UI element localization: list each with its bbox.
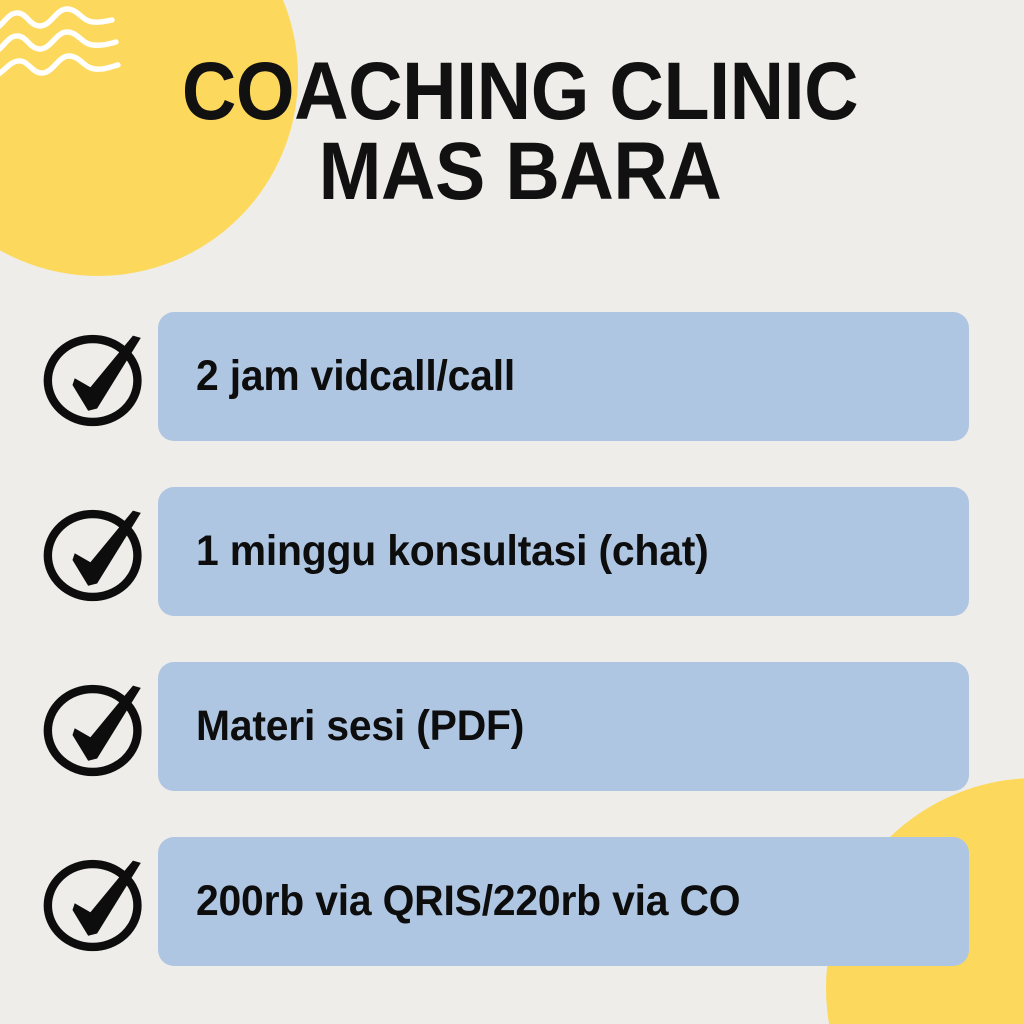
feature-label: 1 minggu konsultasi (chat) <box>158 527 709 576</box>
circled-check-icon <box>40 845 152 957</box>
feature-list: 2 jam vidcall/call 1 minggu konsultasi (… <box>0 312 1024 966</box>
feature-label: Materi sesi (PDF) <box>158 702 524 751</box>
feature-bar[interactable]: 1 minggu konsultasi (chat) <box>158 487 969 616</box>
circled-check-icon <box>40 495 152 607</box>
list-item[interactable]: 1 minggu konsultasi (chat) <box>0 487 1024 616</box>
list-item[interactable]: Materi sesi (PDF) <box>0 662 1024 791</box>
feature-bar[interactable]: 200rb via QRIS/220rb via CO <box>158 837 969 966</box>
feature-bar[interactable]: Materi sesi (PDF) <box>158 662 969 791</box>
title-line-2: MAS BARA <box>143 132 897 212</box>
list-item[interactable]: 2 jam vidcall/call <box>0 312 1024 441</box>
poster-canvas: COACHING CLINIC MAS BARA 2 jam vidcall/c… <box>0 0 1024 1024</box>
page-title: COACHING CLINIC MAS BARA <box>110 52 930 213</box>
feature-label: 2 jam vidcall/call <box>158 352 515 401</box>
circled-check-icon <box>40 320 152 432</box>
circled-check-icon <box>40 670 152 782</box>
title-line-1: COACHING CLINIC <box>143 52 897 132</box>
feature-bar[interactable]: 2 jam vidcall/call <box>158 312 969 441</box>
list-item[interactable]: 200rb via QRIS/220rb via CO <box>0 837 1024 966</box>
feature-label: 200rb via QRIS/220rb via CO <box>158 877 740 926</box>
